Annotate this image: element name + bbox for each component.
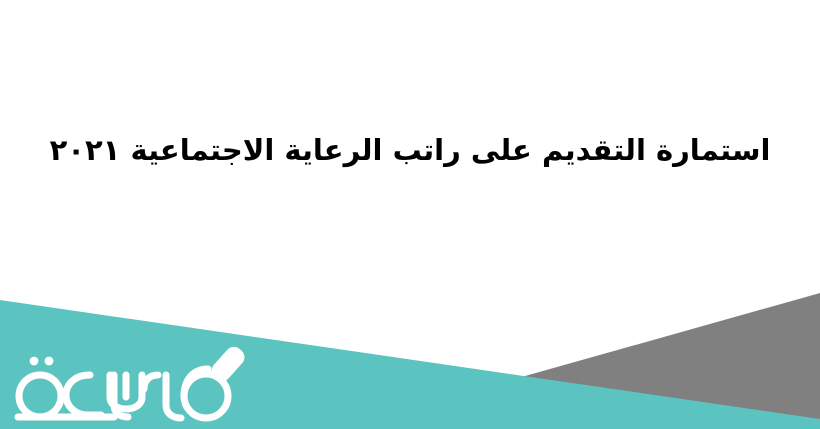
gray-wedge-shape [518, 293, 820, 421]
page-title: استمارة التقديم على راتب الرعاية الاجتما… [50, 132, 771, 168]
logo-dot-left-icon [45, 357, 54, 366]
article-thumbnail-card: استمارة التقديم على راتب الرعاية الاجتما… [0, 0, 820, 429]
logo-glyph-ain [66, 375, 101, 415]
logo-glyph-ta-marbuta [19, 375, 61, 417]
logo-glyph-waw-1-bowl [144, 375, 158, 389]
logo-glyph-waw-1 [166, 375, 181, 418]
title-area: استمارة التقديم على راتب الرعاية الاجتما… [0, 0, 820, 300]
brand-logo[interactable]: موسوعة [6, 339, 276, 425]
logo-dot-right-icon [30, 357, 39, 366]
brand-logo-mark [6, 339, 276, 425]
